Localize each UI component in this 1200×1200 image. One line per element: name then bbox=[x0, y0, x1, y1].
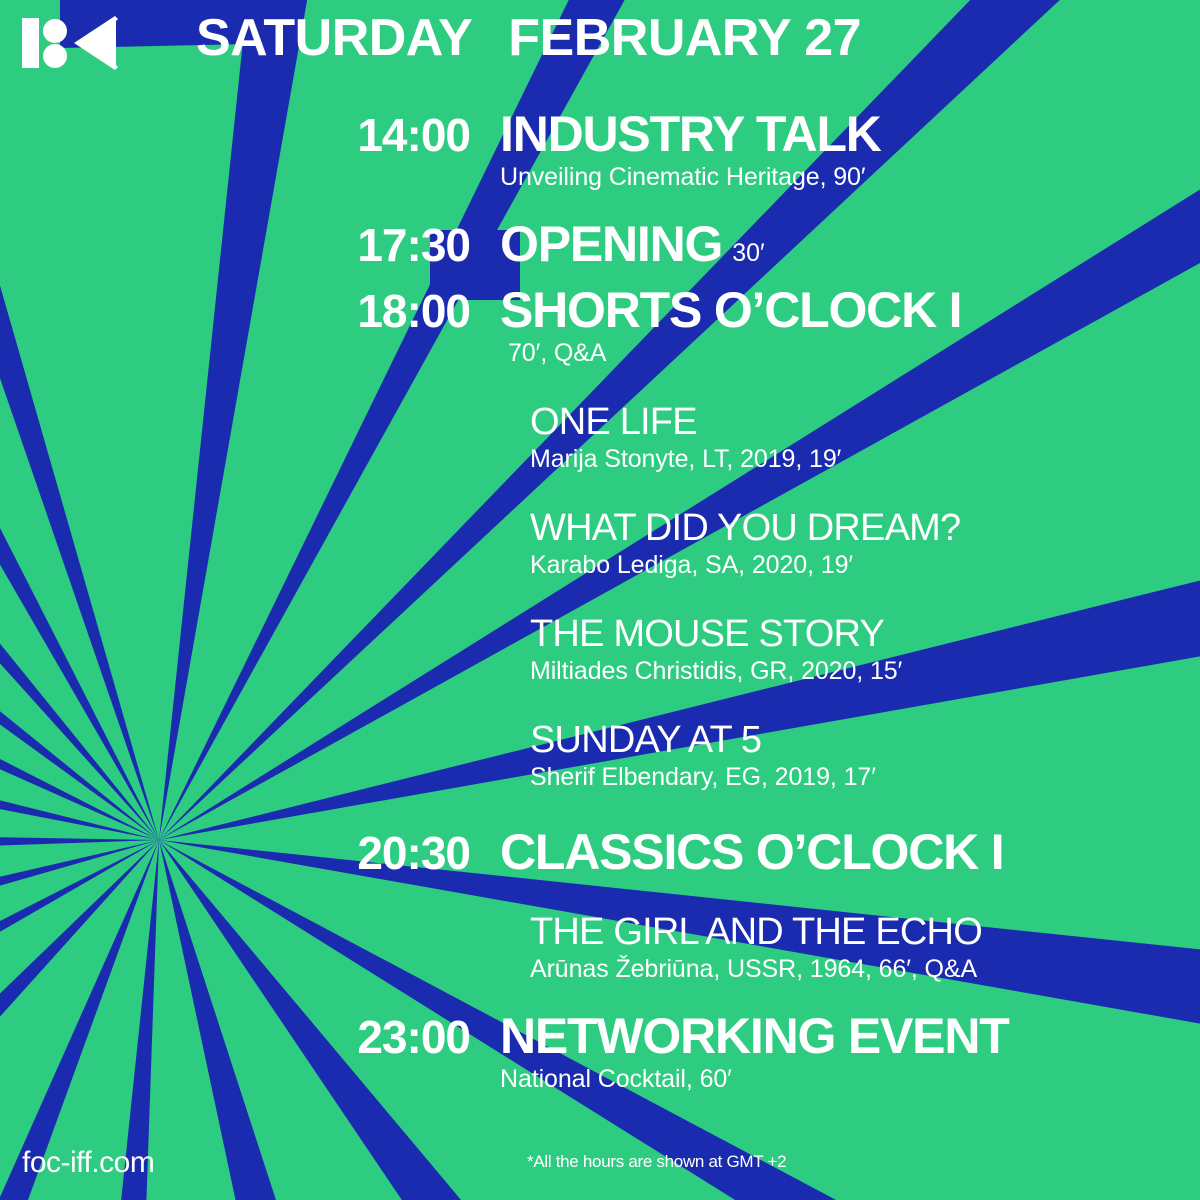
schedule-slot: 18:00SHORTS O’CLOCK I70′, Q&A bbox=[0, 284, 1200, 368]
slot-time: 14:00 bbox=[0, 112, 500, 160]
slot-time: 20:30 bbox=[0, 830, 500, 878]
header-day: SATURDAY bbox=[196, 12, 472, 64]
slot-title-text: OPENING bbox=[500, 216, 722, 272]
film-title: SUNDAY AT 5 bbox=[530, 720, 1200, 761]
slot-subtitle: National Cocktail, 60′ bbox=[500, 1064, 1200, 1094]
spacer bbox=[0, 686, 1200, 720]
logo-dot-bottom-icon bbox=[43, 44, 67, 68]
schedule-slot: 23:00NETWORKING EVENTNational Cocktail, … bbox=[0, 1010, 1200, 1094]
slot-body: INDUSTRY TALKUnveiling Cinematic Heritag… bbox=[500, 108, 1200, 192]
slot-title-text: INDUSTRY TALK bbox=[500, 106, 881, 162]
film-credit: Sherif Elbendary, EG, 2019, 17′ bbox=[530, 762, 1200, 792]
header-date: FEBRUARY 27 bbox=[508, 12, 861, 64]
schedule-slot: 20:30CLASSICS O’CLOCK I bbox=[0, 826, 1200, 878]
spacer bbox=[0, 474, 1200, 508]
logo-chevron-solid-icon bbox=[85, 17, 116, 69]
schedule-slot: 14:00INDUSTRY TALKUnveiling Cinematic He… bbox=[0, 108, 1200, 192]
slot-title-text: NETWORKING EVENT bbox=[500, 1008, 1009, 1064]
slot-title: NETWORKING EVENT bbox=[500, 1010, 1200, 1062]
slot-subtitle: 70′, Q&A bbox=[500, 338, 1200, 368]
spacer bbox=[0, 368, 1200, 402]
film-credit: Karabo Lediga, SA, 2020, 19′ bbox=[530, 550, 1200, 580]
poster-header: SATURDAY FEBRUARY 27 bbox=[196, 12, 861, 64]
slot-body: SHORTS O’CLOCK I70′, Q&A bbox=[500, 284, 1200, 368]
film-title: THE GIRL AND THE ECHO bbox=[530, 912, 1200, 953]
spacer bbox=[0, 984, 1200, 1010]
film-credit: Arūnas Žebriūna, USSR, 1964, 66′, Q&A bbox=[530, 954, 1200, 984]
schedule-list: 14:00INDUSTRY TALKUnveiling Cinematic He… bbox=[0, 108, 1200, 1094]
spacer bbox=[0, 580, 1200, 614]
slot-inline-duration: 30′ bbox=[722, 239, 765, 267]
logo-dot-top-icon bbox=[43, 19, 67, 43]
film-entry: THE GIRL AND THE ECHOArūnas Žebriūna, US… bbox=[0, 912, 1200, 984]
film-entry: THE MOUSE STORYMiltiades Christidis, GR,… bbox=[0, 614, 1200, 686]
slot-title: CLASSICS O’CLOCK I bbox=[500, 826, 1200, 878]
film-credit: Miltiades Christidis, GR, 2020, 15′ bbox=[530, 656, 1200, 686]
slot-time: 17:30 bbox=[0, 222, 500, 270]
slot-subtitle: Unveiling Cinematic Heritage, 90′ bbox=[500, 162, 1200, 192]
film-entry: ONE LIFEMarija Stonyte, LT, 2019, 19′ bbox=[0, 402, 1200, 474]
slot-title: INDUSTRY TALK bbox=[500, 108, 1200, 160]
film-title: WHAT DID YOU DREAM? bbox=[530, 508, 1200, 549]
slot-time: 18:00 bbox=[0, 288, 500, 336]
slot-title: OPENING30′ bbox=[500, 218, 1200, 270]
spacer bbox=[0, 878, 1200, 912]
film-title: ONE LIFE bbox=[530, 402, 1200, 443]
slot-body: OPENING30′ bbox=[500, 218, 1200, 270]
film-entry: WHAT DID YOU DREAM?Karabo Lediga, SA, 20… bbox=[0, 508, 1200, 580]
slot-title: SHORTS O’CLOCK I bbox=[500, 284, 1200, 336]
foc-iff-logo[interactable] bbox=[22, 14, 118, 72]
slot-body: CLASSICS O’CLOCK I bbox=[500, 826, 1200, 878]
film-title: THE MOUSE STORY bbox=[530, 614, 1200, 655]
spacer bbox=[0, 792, 1200, 826]
footer-website[interactable]: foc-iff.com bbox=[22, 1146, 154, 1180]
film-credit: Marija Stonyte, LT, 2019, 19′ bbox=[530, 444, 1200, 474]
festival-schedule-poster: SATURDAY FEBRUARY 27 14:00INDUSTRY TALKU… bbox=[0, 0, 1200, 1200]
footer-timezone-note: *All the hours are shown at GMT +2 bbox=[527, 1152, 786, 1172]
schedule-slot: 17:30OPENING30′ bbox=[0, 218, 1200, 270]
slot-title-text: SHORTS O’CLOCK I bbox=[500, 282, 961, 338]
slot-body: NETWORKING EVENTNational Cocktail, 60′ bbox=[500, 1010, 1200, 1094]
logo-bar-icon bbox=[22, 18, 39, 68]
spacer bbox=[0, 192, 1200, 218]
slot-title-text: CLASSICS O’CLOCK I bbox=[500, 824, 1003, 880]
film-entry: SUNDAY AT 5Sherif Elbendary, EG, 2019, 1… bbox=[0, 720, 1200, 792]
slot-time: 23:00 bbox=[0, 1014, 500, 1062]
